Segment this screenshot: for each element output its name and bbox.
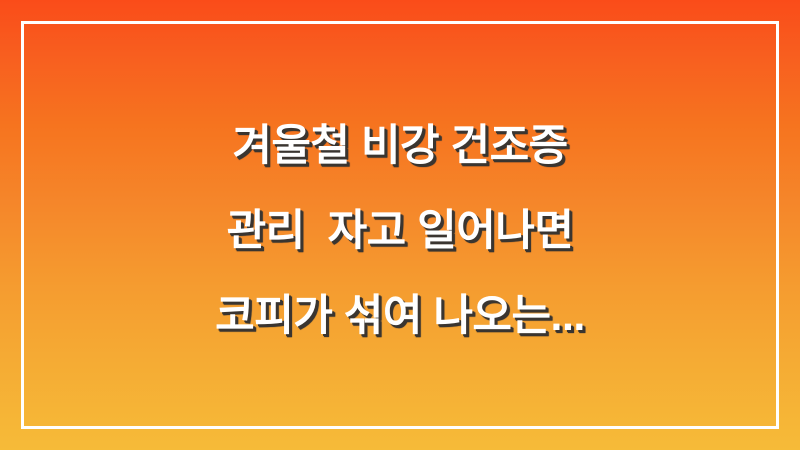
headline-line-2: 관리 자고 일어나면 bbox=[0, 189, 800, 274]
headline-line-3: 코피가 섞여 나오는... bbox=[0, 274, 800, 359]
headline-block: 겨울철 비강 건조증 관리 자고 일어나면 코피가 섞여 나오는... bbox=[0, 104, 800, 359]
headline-line-1: 겨울철 비강 건조증 bbox=[0, 104, 800, 189]
thumbnail-card: 겨울철 비강 건조증 관리 자고 일어나면 코피가 섞여 나오는... bbox=[0, 0, 800, 450]
